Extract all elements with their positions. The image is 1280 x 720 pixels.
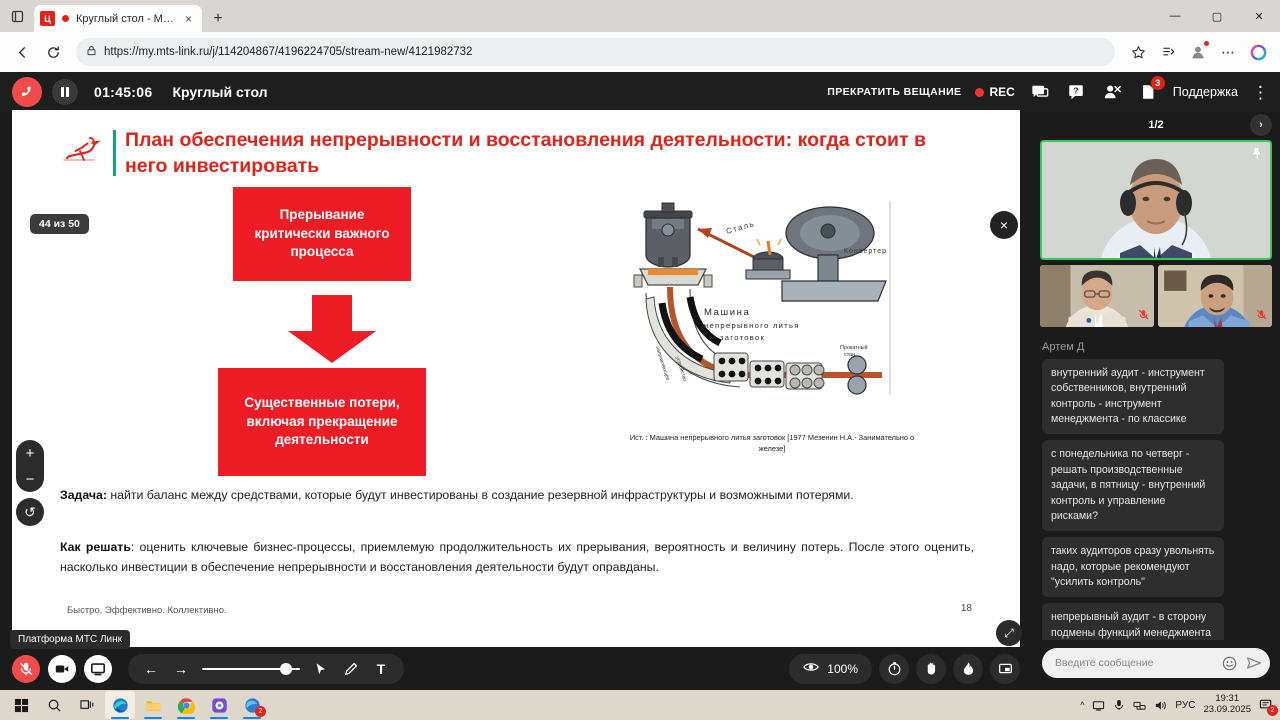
taskbar-clock[interactable]: 19:31 23.09.2025 [1203,694,1251,716]
title-accent-bar [113,130,116,176]
view-controls: 100% [789,654,1020,684]
chat-author-name: Артем Д [1042,341,1270,353]
zoom-level-value: 100% [827,662,858,676]
stop-broadcast-button[interactable]: ПРЕКРАТИТЬ ВЕЩАНИЕ [827,86,961,98]
stroke-width-slider[interactable] [202,660,300,678]
taskbar-app-badge: 2 [255,706,266,717]
layout-icon[interactable] [990,654,1020,684]
svg-text:?: ? [1073,86,1078,95]
mic-off-icon [1256,309,1267,323]
meeting-title: Круглый стол [172,84,267,100]
mic-off-button[interactable] [12,655,40,683]
chat-message: внутренний аудит - инструмент собственни… [1042,359,1224,434]
mic-icon[interactable] [1113,699,1125,711]
chat-icon[interactable] [1029,81,1051,103]
header-more-icon[interactable]: ⋮ [1252,84,1268,101]
task-label: Задача: [60,488,107,502]
svg-text:Конвертер: Конвертер [844,248,887,255]
taskbar-app-blue[interactable]: 2 [237,691,267,719]
hand-icon[interactable] [916,654,946,684]
recording-indicator: REC [975,85,1014,99]
prev-slide-button[interactable]: ← [142,660,160,678]
collections-icon[interactable] [1154,38,1182,66]
svg-text:Машина: Машина [704,307,750,318]
reaction-icon[interactable] [953,654,983,684]
bird-logo-icon [60,134,106,168]
meeting-bottom-toolbar: ← → T 100% [0,647,1032,690]
svg-text:стан: стан [844,352,855,358]
timer-icon[interactable] [879,654,909,684]
next-page-button[interactable]: › [1250,114,1272,136]
search-icon[interactable] [39,691,69,719]
slide-page-indicator: 44 из 50 [30,214,89,234]
reload-button[interactable] [39,38,67,66]
participant-video-thumbnail[interactable] [1158,265,1272,327]
how-to-solve-paragraph: Как решать: оценить ключевые бизнес-проц… [60,538,974,578]
screen-share-button[interactable] [84,655,112,683]
illustration-caption: Ист. : Машина непрерывного литья заготов… [617,432,927,454]
emoji-icon[interactable] [1221,655,1238,672]
tab-actions-icon[interactable] [0,0,34,32]
task-view-icon[interactable] [72,691,102,719]
tab-title: Круглый стол - МТС Линк [76,13,176,25]
network-icon[interactable] [1133,699,1146,712]
site-info-icon[interactable] [86,45,97,59]
zoom-out-button[interactable]: − [16,466,44,492]
platform-tooltip: Платформа МТС Линк [10,630,130,649]
process-interruption-box: Прерывание критически важного процесса [233,187,411,281]
down-arrow-icon [279,295,385,363]
browser-tab-strip: Ц Круглый стол - МТС Линк × + — ▢ ✕ [0,0,1280,32]
maximize-button[interactable]: ▢ [1196,0,1238,32]
camera-button[interactable] [48,655,76,683]
meeting-header: 01:45:06 Круглый стол ПРЕКРАТИТЬ ВЕЩАНИЕ… [0,72,1280,112]
slide-zoom-controls: + − ↺ [16,440,44,526]
chat-message: непрерывный аудит - в сторону подмены фу… [1042,603,1224,640]
slide-footer-tagline: Быстро. Эффективно. Коллективно. [67,605,227,616]
how-text: : оценить ключевые бизнес-процессы, прие… [60,540,974,574]
next-slide-button[interactable]: → [172,660,190,678]
significant-losses-box: Существенные потери, включая прекращение… [218,368,426,476]
new-tab-button[interactable]: + [205,6,231,32]
browser-toolbar-right: ⋯ [1124,38,1272,66]
how-label: Как решать [60,540,131,554]
taskbar-app-explorer[interactable] [138,691,168,719]
zoom-reset-button[interactable]: ↺ [16,498,44,526]
chevron-up-icon[interactable]: ^ [1080,700,1084,710]
hangup-button[interactable] [12,77,42,107]
eye-icon [803,661,819,676]
url-text: https://my.mts-link.ru/j/114204867/41962… [104,46,472,58]
close-presentation-button[interactable]: × [990,211,1018,239]
participant-page-nav: 1/2 › [1032,112,1280,138]
zoom-in-button[interactable]: + [16,440,44,466]
favorite-icon[interactable] [1124,38,1152,66]
zoom-level-control[interactable]: 100% [789,654,872,684]
files-icon[interactable]: 3 [1137,81,1159,103]
language-indicator[interactable]: РУС [1175,700,1195,711]
pen-icon[interactable] [342,660,360,678]
taskbar-app-chrome[interactable] [171,691,201,719]
svg-text:непрерывного литья: непрерывного литья [704,321,800,330]
browser-navigation-bar: https://my.mts-link.ru/j/114204867/41962… [0,32,1280,72]
task-text: найти баланс между средствами, которые б… [110,488,853,502]
browser-more-icon[interactable]: ⋯ [1214,38,1242,66]
pause-button[interactable] [52,79,78,105]
send-icon[interactable] [1245,655,1262,672]
back-button[interactable] [8,38,36,66]
participant-thumbnails [1040,265,1272,327]
minimize-button[interactable]: — [1154,0,1196,32]
annotation-toolbar: ← → T [128,654,404,684]
continuous-casting-illustration: Сталь Конвертер [632,197,902,437]
slider-knob[interactable] [280,663,292,675]
taskbar-app-edge[interactable] [105,691,135,719]
chat-composer[interactable]: Введите сообщение [1042,648,1270,678]
fullscreen-button[interactable]: ⤢ [996,620,1022,646]
window-controls: — ▢ ✕ [1154,0,1280,32]
participant-video-thumbnail[interactable] [1040,265,1154,327]
taskbar-app-purple[interactable] [204,691,234,719]
cursor-icon[interactable] [312,660,330,678]
svg-text:Прокатный: Прокатный [840,344,868,351]
close-window-button[interactable]: ✕ [1238,0,1280,32]
question-icon[interactable]: ? [1065,81,1087,103]
tab-close-button[interactable]: × [181,11,196,26]
slide-number: 18 [961,603,972,614]
participants-and-chat-sidebar: 1/2 › [1032,112,1280,690]
svg-text:заготовок: заготовок [720,333,765,342]
support-link[interactable]: Поддержка [1173,85,1238,99]
meeting-timer: 01:45:06 [94,84,152,100]
chat-input-placeholder[interactable]: Введите сообщение [1055,657,1214,669]
slide-canvas: План обеспечения непрерывности и восстан… [12,110,1020,647]
windows-taskbar: 2 ^ РУС 19:31 23.09.2025 2 [0,690,1280,720]
browser-tab[interactable]: Ц Круглый стол - МТС Линк × [34,5,202,32]
profile-icon[interactable] [1184,38,1212,66]
chat-message: таких аудиторов сразу увольнять надо, ко… [1042,537,1224,597]
participants-icon[interactable] [1101,81,1123,103]
address-bar[interactable]: https://my.mts-link.ru/j/114204867/41962… [76,38,1115,66]
presentation-stage: План обеспечения непрерывности и восстан… [0,112,1032,647]
rec-dot-icon [975,88,984,97]
system-tray: ^ РУС 19:31 23.09.2025 2 [1080,694,1274,716]
notification-center-icon[interactable]: 2 [1259,698,1274,713]
profile-badge [1203,40,1210,47]
task-paragraph: Задача: найти баланс между средствами, к… [60,486,974,506]
chat-message: с понедельника по четверг - решать произ… [1042,440,1224,531]
clock-date: 23.09.2025 [1203,705,1251,716]
page-indicator: 1/2 [1148,119,1163,131]
mts-link-favicon: Ц [40,11,55,26]
notification-badge: 2 [1267,705,1278,716]
display-icon[interactable] [1092,699,1105,712]
copilot-icon[interactable] [1244,38,1272,66]
slide-title: План обеспечения непрерывности и восстан… [125,128,945,179]
rec-label: REC [989,85,1014,99]
mic-off-icon [1138,309,1149,323]
main-speaker-video[interactable] [1040,140,1272,260]
start-icon[interactable] [6,691,36,719]
pin-icon[interactable] [1250,147,1263,163]
rec-dot-icon [60,13,71,24]
volume-icon[interactable] [1154,699,1167,712]
text-tool-icon[interactable]: T [372,660,390,678]
files-badge: 3 [1151,76,1165,90]
chat-message-list[interactable]: внутренний аудит - инструмент собственни… [1032,359,1280,640]
